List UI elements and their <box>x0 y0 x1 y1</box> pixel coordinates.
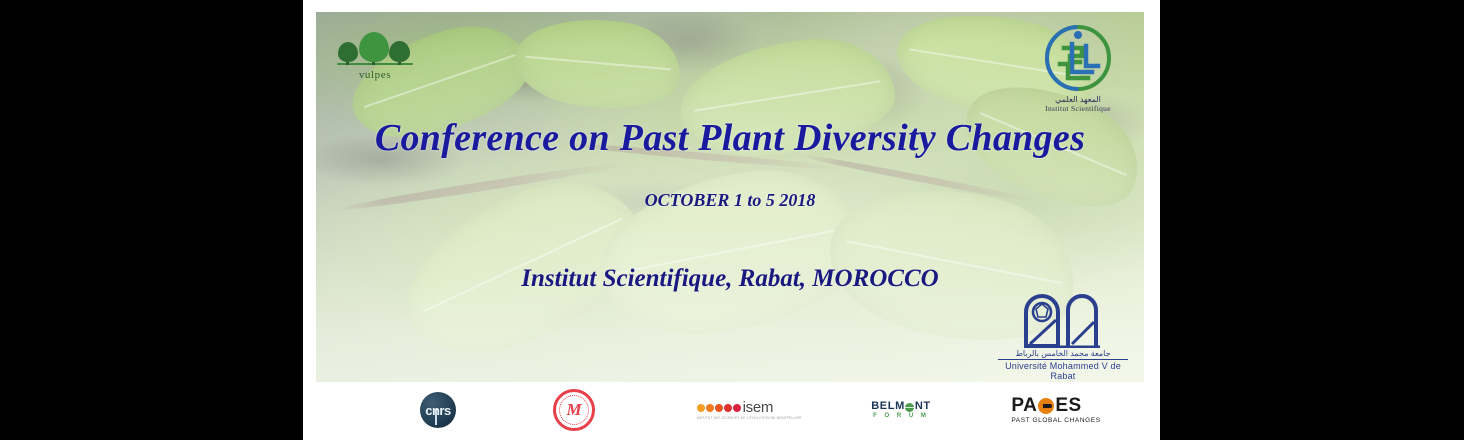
montpellier-monogram: M <box>556 392 592 428</box>
pages-label-part2: ES <box>1055 396 1081 415</box>
montpellier-seal-icon: M <box>553 389 595 431</box>
cnrs-label: cnrs <box>420 392 456 428</box>
pages-globe-icon <box>1038 398 1054 414</box>
universite-mohammed-v-french: Université Mohammed V de Rabat <box>998 361 1128 381</box>
conference-dates: OCTOBER 1 to 5 2018 <box>316 190 1144 211</box>
cnrs-icon: cnrs <box>420 392 456 428</box>
belmont-forum-icon: BELM NT F O R U M <box>871 401 930 419</box>
arch-monument-icon <box>1020 290 1106 348</box>
institut-scientifique-logo: المعهد العلمي Institut Scientifique <box>1030 22 1126 113</box>
pages-label-part1: PA <box>1011 396 1037 415</box>
page-title: Conference on Past Plant Diversity Chang… <box>316 116 1144 160</box>
vulpes-logo: vulpes <box>334 34 416 81</box>
poster-banner-image: Conference on Past Plant Diversity Chang… <box>316 12 1144 382</box>
isem-label: isem <box>743 400 773 415</box>
three-trees-icon <box>334 34 416 68</box>
belmont-sublabel: F O R U M <box>871 413 930 419</box>
vulpes-label: vulpes <box>334 69 416 81</box>
sponsor-logo-isem: isem INSTITUT DES SCIENCES DE L'EVOLUTIO… <box>694 384 804 436</box>
isem-dots-icon <box>697 404 741 412</box>
globe-icon <box>905 403 914 412</box>
conference-venue: Institut Scientifique, Rabat, MOROCCO <box>316 265 1144 293</box>
universite-mohammed-v-arabic: جامعة محمد الخامس بالرباط <box>998 349 1128 360</box>
tree-crown <box>359 32 389 62</box>
tree-crown <box>389 41 410 62</box>
institut-scientifique-circle-icon <box>1042 22 1114 94</box>
belmont-label-part1: BELM <box>871 401 905 412</box>
isem-sublabel: INSTITUT DES SCIENCES DE L'EVOLUTION DE … <box>697 416 802 420</box>
belmont-label-part2: NT <box>915 401 931 412</box>
sponsor-logo-strip: cnrs M <box>316 384 1144 436</box>
sponsor-logo-belmont-forum: BELM NT F O R U M <box>856 384 946 436</box>
tree-crown <box>338 42 358 62</box>
institut-scientifique-arabic: المعهد العلمي <box>1030 95 1126 104</box>
universite-mohammed-v-logo: جامعة محمد الخامس بالرباط Université Moh… <box>998 290 1128 381</box>
sponsor-logo-universite-de-montpellier: M <box>534 384 614 436</box>
isem-icon: isem INSTITUT DES SCIENCES DE L'EVOLUTIO… <box>697 400 802 420</box>
sponsor-logo-cnrs: cnrs <box>398 384 478 436</box>
pages-sublabel: PAST GLOBAL CHANGES <box>1011 417 1100 424</box>
pages-icon: PA ES PAST GLOBAL CHANGES <box>1011 396 1100 424</box>
sponsor-logo-pages: PA ES PAST GLOBAL CHANGES <box>996 384 1116 436</box>
poster-page: Conference on Past Plant Diversity Chang… <box>303 0 1160 440</box>
screenshot-root: Conference on Past Plant Diversity Chang… <box>0 0 1464 440</box>
institut-scientifique-french: Institut Scientifique <box>1030 104 1126 113</box>
